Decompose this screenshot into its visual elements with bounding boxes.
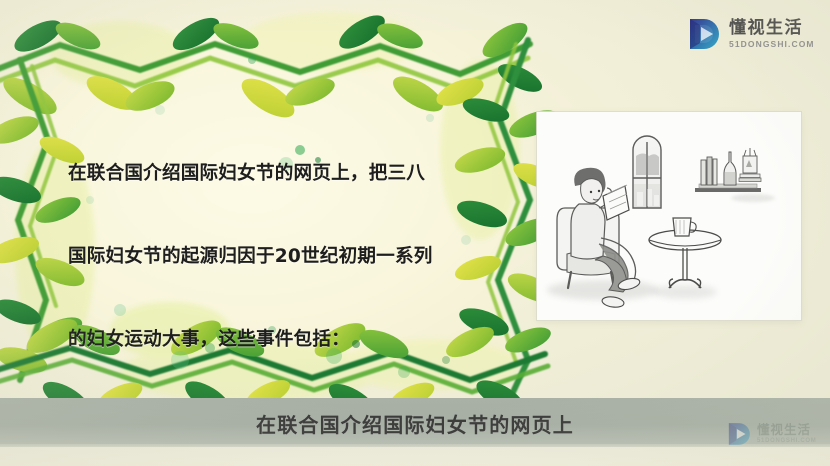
illustration-card [537, 112, 801, 320]
brand-logo: 懂视生活 51DONGSHI.COM [686, 16, 815, 52]
brand-name-cn: 懂视生活 [729, 20, 815, 37]
subtitle-text: 在联合国介绍国际妇女节的网页上 [0, 399, 830, 447]
watermark-name-cn: 懂视生活 [757, 424, 816, 437]
paragraph-line: 的妇女运动大事，这些事件包括： [68, 326, 498, 354]
watermark-domain: 51DONGSHI.COM [757, 438, 816, 444]
bottom-strip [0, 447, 830, 466]
brand-domain: 51DONGSHI.COM [729, 40, 815, 49]
brand-logo-text: 懂视生活 51DONGSHI.COM [729, 20, 815, 49]
paragraph-line: 国际妇女节的起源归因于20世纪初期一系列 [68, 243, 498, 271]
watermark-text: 懂视生活 51DONGSHI.COM [757, 424, 816, 445]
play-in-d-logo-icon [726, 421, 752, 447]
video-frame: 在联合国介绍国际妇女节的网页上，把三八 国际妇女节的起源归因于20世纪初期一系列… [0, 0, 830, 466]
watermark-logo: 懂视生活 51DONGSHI.COM [726, 421, 816, 447]
paragraph-line: 在联合国介绍国际妇女节的网页上，把三八 [68, 160, 498, 188]
play-in-d-logo-icon [686, 16, 722, 52]
woman-reading-in-armchair-illustration [537, 112, 801, 320]
